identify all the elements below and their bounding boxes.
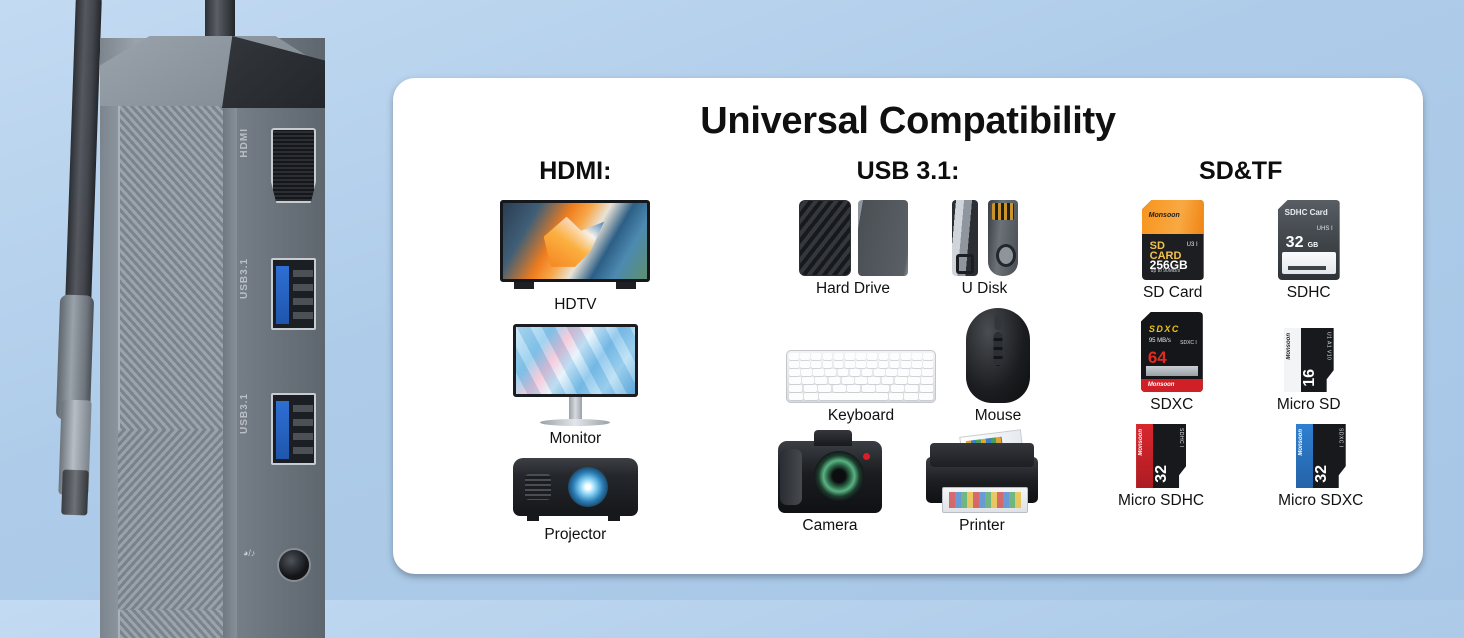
sdhc-card-icon: SDHC Card UHS I 32 GB <box>1278 200 1340 280</box>
monitor-icon <box>513 324 638 426</box>
micro-sdxc-sub-text: SDXC I <box>1338 428 1344 448</box>
usb31-port-lower-icon <box>271 393 316 465</box>
micro-sdxc-card-icon: Monsoon SDXC I 32 <box>1278 424 1363 488</box>
compatibility-card: Universal Compatibility HDMI: HDTV <box>393 78 1423 574</box>
infographic-stage: HDMI USB3.1 USB3.1 ◕/♪ Universal Compati… <box>0 0 1464 600</box>
item-label: SDXC <box>1141 396 1203 414</box>
item-label: Monitor <box>513 430 638 448</box>
micro-sd-sub-text: U1 A1 V10 <box>1326 332 1332 360</box>
usb-blue-tongue <box>276 266 289 324</box>
hdmi-port-icon <box>271 128 316 203</box>
hdmi-row-1: HDTV <box>409 200 742 314</box>
micro-sdhc-sub-text: SDHC I <box>1178 428 1184 448</box>
micro-sdhc-capacity-text: 32 <box>1153 465 1186 483</box>
item-label: U Disk <box>952 280 1018 298</box>
camera-icon <box>778 441 882 513</box>
usb-contacts <box>293 405 313 455</box>
item-printer: Printer <box>926 435 1038 535</box>
item-label: Camera <box>778 517 882 535</box>
micro-sd-capacity-text: 16 <box>1301 369 1334 387</box>
item-sdxc: SDXC 95 MB/s SDXC I 64 GB SDXC <box>1141 312 1203 414</box>
sdhc-title-text: SDHC Card <box>1285 208 1328 217</box>
usb-contacts <box>293 270 313 320</box>
item-monitor: Monitor <box>513 324 638 448</box>
micro-sdxc-capacity-text: 32 <box>1313 465 1346 483</box>
micro-sd-card-icon: Monsoon U1 A1 V10 16 <box>1277 328 1341 392</box>
usb-c-connector-tip <box>61 470 89 516</box>
column-sd-tf: SD&TF Monsoon SD CARD U3 I 256GB up to <box>1074 157 1407 544</box>
hdmi-row-3: Projector <box>409 458 742 544</box>
sdxc-title-text: SDXC <box>1149 324 1180 334</box>
column-usb: USB 3.1: Hard Drive U Disk <box>742 157 1075 544</box>
usb31-port-upper-icon <box>271 258 316 330</box>
item-camera: Camera <box>778 441 882 535</box>
item-label: SD Card <box>1142 284 1204 302</box>
column-heading-sd-tf: SD&TF <box>1074 157 1407 186</box>
dock-port-column: HDMI USB3.1 USB3.1 ◕/♪ <box>237 108 325 608</box>
sdxc-badge-text: SDXC I <box>1180 340 1197 346</box>
compatibility-columns: HDMI: HDTV <box>393 157 1423 544</box>
item-sdhc: SDHC Card UHS I 32 GB SDHC <box>1278 200 1340 302</box>
hdmi-row-2: Monitor <box>409 324 742 448</box>
item-label: Projector <box>513 526 638 544</box>
usb-blue-tongue <box>276 401 289 459</box>
item-hdtv: HDTV <box>500 200 650 314</box>
sdhc-capacity-text: 32 <box>1286 234 1304 252</box>
sd-row-3: Monsoon SDHC I 32 Micro SDHC <box>1074 424 1407 510</box>
sd-speed-badge: U3 I <box>1187 242 1198 248</box>
mouse-icon <box>966 308 1030 403</box>
item-keyboard: Keyboard <box>786 350 936 425</box>
audio-jack-icon <box>277 548 311 582</box>
usb-row-1: Hard Drive U Disk <box>742 200 1075 298</box>
item-micro-sd: Monsoon U1 A1 V10 16 Micro SD <box>1277 328 1341 414</box>
item-sd-card: Monsoon SD CARD U3 I 256GB up to 90MB/s … <box>1142 200 1204 302</box>
sd-card-icon: Monsoon SD CARD U3 I 256GB up to 90MB/s <box>1142 200 1204 280</box>
column-heading-hdmi: HDMI: <box>409 157 742 186</box>
sdxc-capacity-text: 64 <box>1148 348 1167 368</box>
item-mouse: Mouse <box>966 308 1030 425</box>
hard-drive-icon <box>799 200 908 276</box>
item-label: SDHC <box>1278 284 1340 302</box>
port-label-usb31-upper: USB3.1 <box>239 258 250 299</box>
port-label-hdmi: HDMI <box>239 128 250 158</box>
column-hdmi: HDMI: HDTV <box>409 157 742 544</box>
port-label-usb31-lower: USB3.1 <box>239 393 250 434</box>
page-title: Universal Compatibility <box>393 100 1423 143</box>
item-micro-sdxc: Monsoon SDXC I 32 Micro SDXC <box>1278 424 1363 510</box>
item-label: Micro SDHC <box>1118 492 1204 510</box>
keyboard-icon <box>786 350 936 403</box>
item-u-disk: U Disk <box>952 200 1018 298</box>
item-label: Printer <box>926 517 1038 535</box>
sdxc-speed-text: 95 MB/s <box>1149 338 1171 344</box>
usb-row-3: Camera Printer <box>742 435 1075 535</box>
dock-ridge-texture-lower <box>118 430 223 610</box>
sd-row-1: Monsoon SD CARD U3 I 256GB up to 90MB/s … <box>1074 200 1407 302</box>
item-label: Micro SD <box>1277 396 1341 414</box>
dock-bevel-edge <box>223 78 237 638</box>
micro-sdhc-card-icon: Monsoon SDHC I 32 <box>1118 424 1204 488</box>
sdhc-badge-text: UHS I <box>1317 226 1333 232</box>
sdhc-capacity-unit: GB <box>1308 242 1319 249</box>
item-label: Hard Drive <box>799 280 908 298</box>
item-projector: Projector <box>513 458 638 544</box>
item-label: Mouse <box>966 407 1030 425</box>
usb-row-2: Keyboard Mouse <box>742 308 1075 425</box>
projector-icon <box>513 458 638 522</box>
item-label: Keyboard <box>786 407 936 425</box>
headphone-symbol-icon: ◕/♪ <box>243 548 255 558</box>
sd-row-2: SDXC 95 MB/s SDXC I 64 GB SDXC <box>1074 312 1407 414</box>
item-label: HDTV <box>500 296 650 314</box>
sdxc-card-icon: SDXC 95 MB/s SDXC I 64 GB <box>1141 312 1203 392</box>
item-micro-sdhc: Monsoon SDHC I 32 Micro SDHC <box>1118 424 1204 510</box>
usb-c-cable <box>64 0 102 340</box>
usb-flash-drive-icon <box>952 200 1018 276</box>
hdtv-icon <box>500 200 650 292</box>
column-heading-usb: USB 3.1: <box>742 157 1075 186</box>
product-image: HDMI USB3.1 USB3.1 ◕/♪ <box>0 0 380 600</box>
item-label: Micro SDXC <box>1278 492 1363 510</box>
printer-icon <box>926 435 1038 513</box>
sd-speed-text: up to 90MB/s <box>1151 268 1180 274</box>
item-hard-drive: Hard Drive <box>799 200 908 298</box>
